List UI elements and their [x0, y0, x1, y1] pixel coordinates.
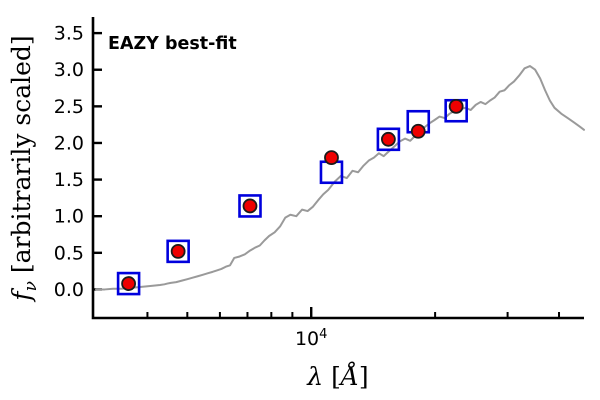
- x-axis-label: λ [Å]: [306, 361, 368, 391]
- observed-photometry-circle: [412, 125, 425, 138]
- observed-photometry-circle: [325, 151, 338, 164]
- x-tick-label-major: 104: [295, 327, 327, 350]
- y-tick-label: 0.0: [54, 279, 84, 301]
- y-tick-label: 1.0: [54, 206, 84, 228]
- annotation-eazy-best-fit: EAZY best-fit: [108, 34, 237, 54]
- y-tick-label: 2.5: [54, 96, 84, 118]
- observed-photometry-circle: [450, 100, 463, 113]
- y-axis-label-text: fν [arbitrarily scaled]: [7, 35, 41, 302]
- x-axis-label-text: λ [Å]: [306, 361, 368, 391]
- axes-frame: [93, 17, 584, 318]
- observed-photometry-circle: [243, 199, 256, 212]
- observed-photometry-circle: [172, 245, 185, 258]
- plot-background: [93, 17, 584, 318]
- figure-canvas: 0.00.51.01.52.02.53.03.5 104 EAZY best-f…: [0, 0, 600, 400]
- y-tick-label: 2.0: [54, 132, 84, 154]
- y-tick-label: 1.5: [54, 169, 84, 191]
- y-tick-label: 3.5: [54, 23, 84, 45]
- observed-photometry-circle: [122, 277, 135, 290]
- observed-photometry-circle: [382, 133, 395, 146]
- x-tick-label-10000: 104: [295, 327, 327, 350]
- y-tick-label: 3.0: [54, 59, 84, 81]
- y-axis-label: fν [arbitrarily scaled]: [7, 35, 41, 302]
- y-tick-label: 0.5: [54, 242, 84, 264]
- sed-plot: 0.00.51.01.52.02.53.03.5 104 EAZY best-f…: [0, 0, 600, 400]
